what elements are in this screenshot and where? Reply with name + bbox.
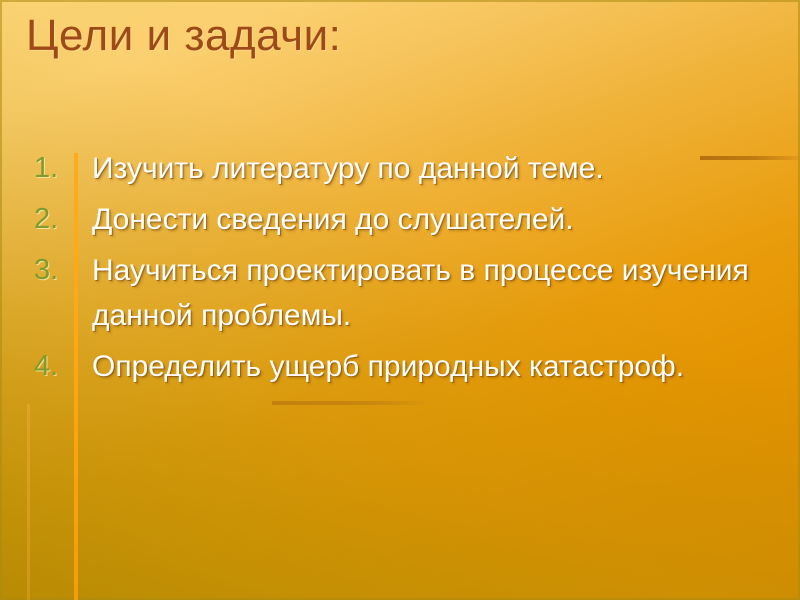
list-item: 4. Определить ущерб природных катастроф.: [0, 344, 800, 389]
list-item-number: 1.: [0, 146, 58, 191]
list-item-text: Определить ущерб природных катастроф.: [58, 344, 800, 389]
list-item: 3. Научиться проектировать в процессе из…: [0, 248, 800, 338]
list-item-text: Научиться проектировать в процессе изуче…: [58, 248, 800, 338]
decorative-rule-vertical-left: [27, 404, 30, 600]
decorative-rule-bottom-left: [272, 401, 427, 405]
list-item-number: 3.: [0, 248, 58, 293]
list-item-number: 4.: [0, 344, 58, 389]
objectives-list: 1. Изучить литературу по данной теме. 2.…: [0, 146, 800, 395]
list-item-text: Изучить литературу по данной теме.: [58, 146, 800, 191]
list-item-number: 2.: [0, 197, 58, 242]
list-item: 2. Донести сведения до слушателей.: [0, 197, 800, 242]
slide-title: Цели и задачи:: [26, 11, 341, 61]
list-item: 1. Изучить литературу по данной теме.: [0, 146, 800, 191]
presentation-slide: Цели и задачи: 1. Изучить литературу по …: [0, 0, 800, 600]
list-item-text: Донести сведения до слушателей.: [58, 197, 800, 242]
